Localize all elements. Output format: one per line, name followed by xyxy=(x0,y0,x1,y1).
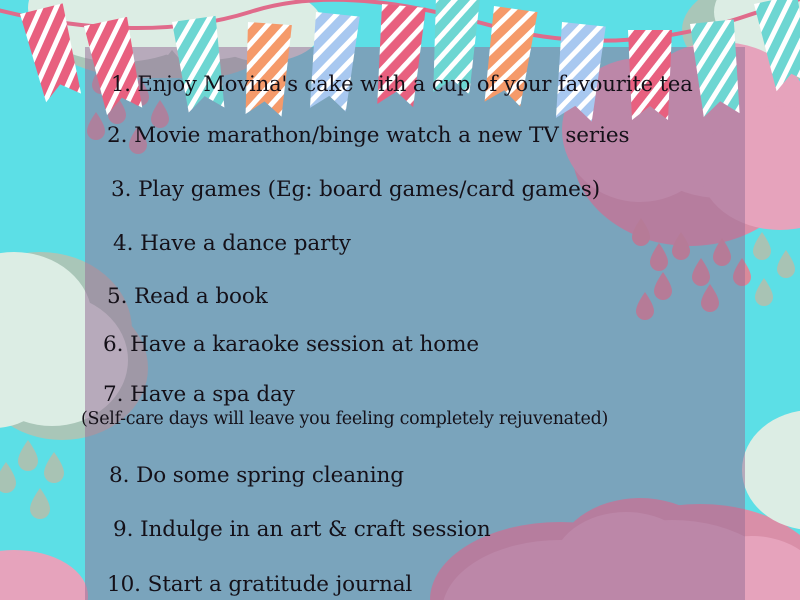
list-item-number: 7. xyxy=(103,382,130,407)
list-item-number: 9. xyxy=(113,517,140,542)
list-item-text: Do some spring cleaning xyxy=(136,463,404,488)
list-item-text: Indulge in an art & craft session xyxy=(140,517,491,542)
list-item: 6. Have a karaoke session at home xyxy=(103,334,735,357)
list-item: 4. Have a dance party xyxy=(113,233,735,256)
list-item-number: 6. xyxy=(103,332,130,357)
activity-list: 1. Enjoy Movina's cake with a cup of you… xyxy=(85,47,745,600)
list-item: 3. Play games (Eg: board games/card game… xyxy=(111,179,735,202)
list-item-number: 8. xyxy=(109,463,136,488)
list-item-text: Have a karaoke session at home xyxy=(130,332,479,357)
list-item: 5. Read a book xyxy=(107,286,735,309)
list-item-text: Read a book xyxy=(134,284,268,309)
list-item-text: Have a spa day xyxy=(130,382,295,407)
list-item-number: 1. xyxy=(111,72,137,96)
list-item: 7. Have a spa day xyxy=(103,384,735,407)
list-item: 10. Start a gratitude journal xyxy=(107,574,735,597)
list-item: 2. Movie marathon/binge watch a new TV s… xyxy=(107,125,735,148)
list-item-number: 2. xyxy=(107,123,134,148)
list-item-subtext: (Self-care days will leave you feeling c… xyxy=(81,409,735,429)
list-item-number: 5. xyxy=(107,284,134,309)
poster-canvas: 1. Enjoy Movina's cake with a cup of you… xyxy=(0,0,800,600)
list-item-number: 3. xyxy=(111,177,138,202)
list-item-text: Start a gratitude journal xyxy=(148,572,413,597)
list-item-text: Have a dance party xyxy=(140,231,351,256)
list-item-number: 4. xyxy=(113,231,140,256)
list-item: 8. Do some spring cleaning xyxy=(109,465,735,488)
list-item: 1. Enjoy Movina's cake with a cup of you… xyxy=(111,73,735,95)
list-item-text: Enjoy Movina's cake with a cup of your f… xyxy=(137,72,692,96)
list-item: 9. Indulge in an art & craft session xyxy=(113,519,735,542)
list-item-text: Movie marathon/binge watch a new TV seri… xyxy=(134,123,629,148)
list-item-number: 10. xyxy=(107,572,148,597)
list-item-text: Play games (Eg: board games/card games) xyxy=(138,177,600,202)
